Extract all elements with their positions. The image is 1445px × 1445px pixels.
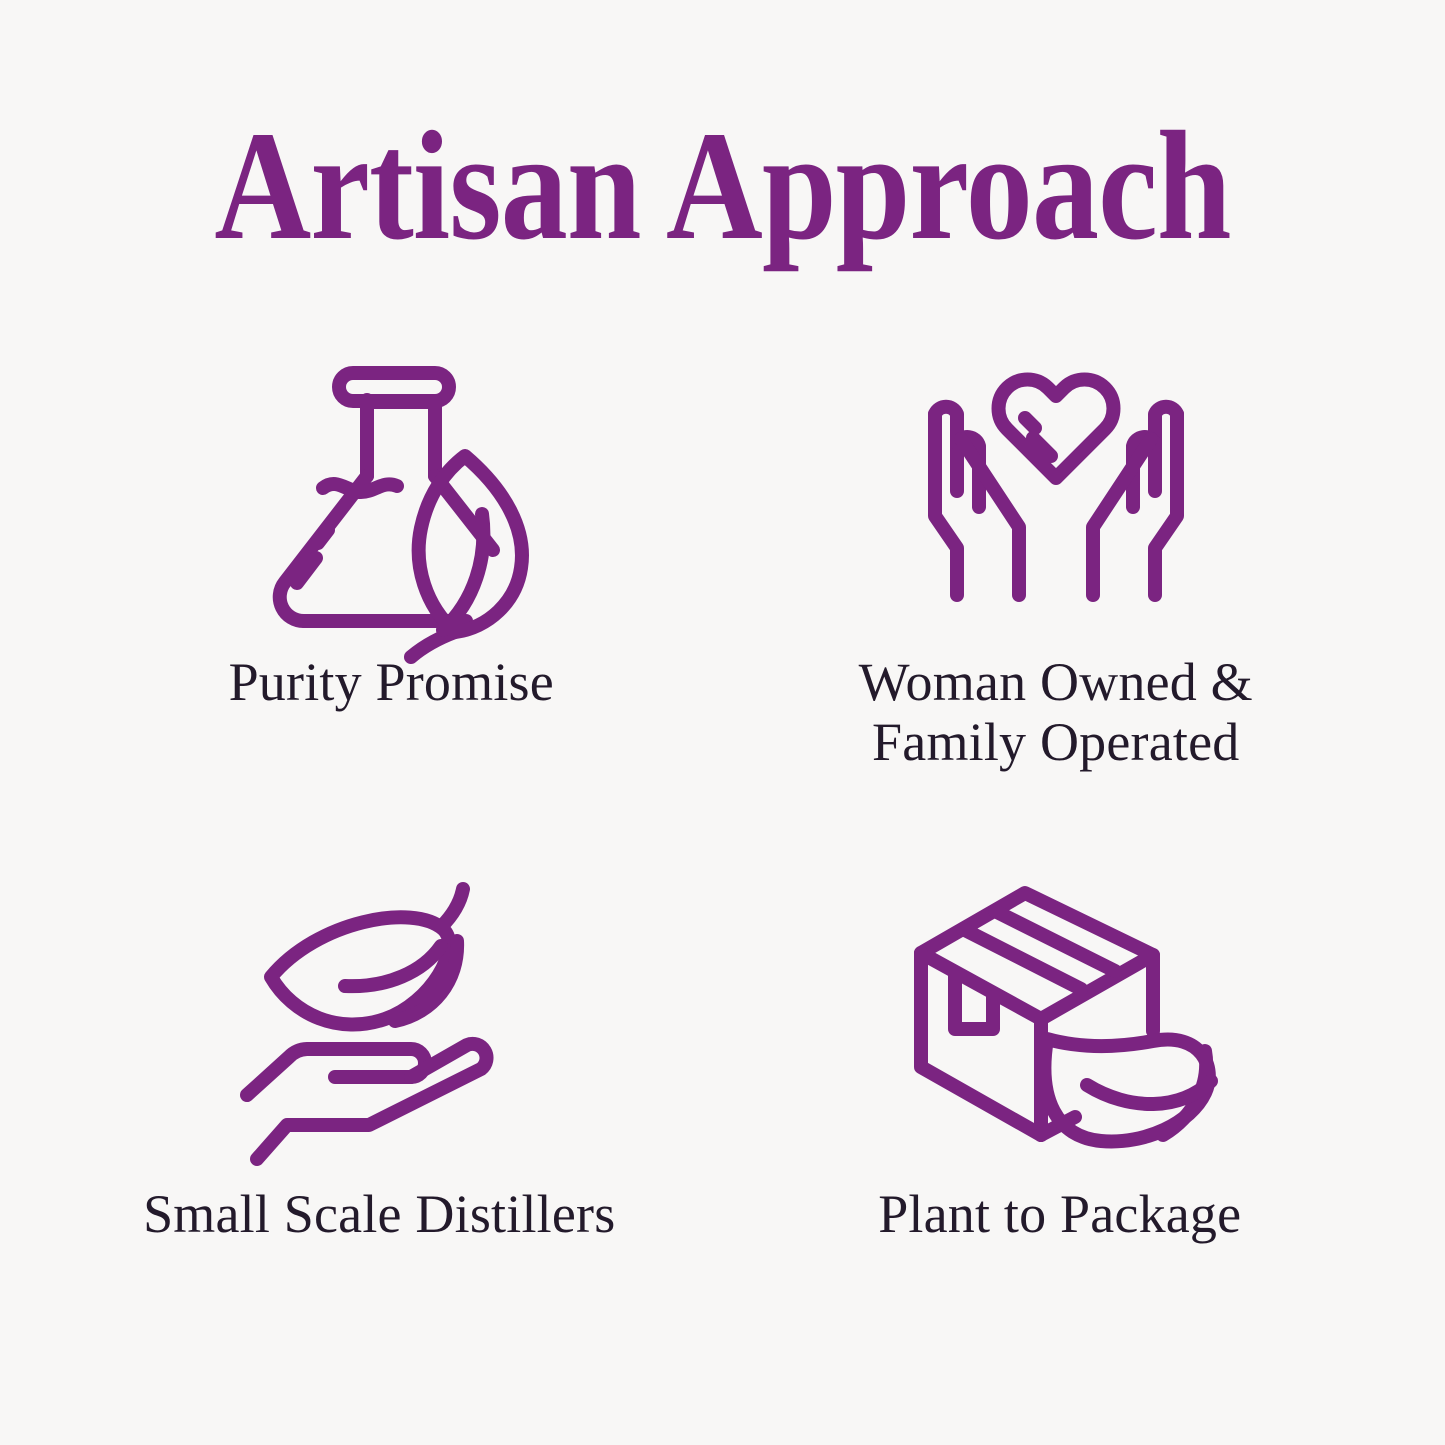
hands-holding-heart-icon [891, 340, 1221, 640]
feature-label: Small Scale Distillers [143, 1184, 615, 1244]
feature-item-small-scale-distillers: Small Scale Distillers [60, 860, 723, 1390]
flask-leaf-icon [234, 336, 564, 636]
feature-label: Plant to Package [878, 1184, 1241, 1244]
page-title: Artisan Approach [101, 108, 1344, 264]
feature-item-purity-promise: Purity Promise [60, 330, 723, 860]
artisan-approach-infographic: Artisan Approach [0, 0, 1445, 1445]
feature-item-plant-to-package: Plant to Package [723, 860, 1386, 1390]
hand-holding-leaf-icon [220, 876, 550, 1166]
feature-label: Woman Owned & Family Operated [859, 652, 1253, 773]
feature-item-woman-owned: Woman Owned & Family Operated [723, 330, 1386, 860]
box-leaf-icon [899, 874, 1229, 1164]
feature-label: Purity Promise [229, 652, 554, 712]
feature-grid: Purity Promise [60, 330, 1385, 1390]
